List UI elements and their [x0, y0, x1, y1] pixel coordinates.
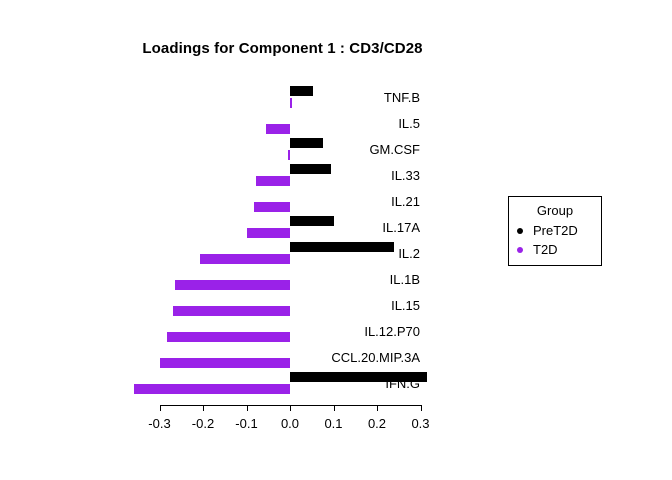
bar-group: IFN.G	[0, 370, 420, 396]
bar-t2d	[288, 150, 290, 160]
bar-pret2d	[290, 372, 427, 382]
bar-t2d	[266, 124, 290, 134]
x-axis-tick	[203, 405, 204, 411]
legend-label: PreT2D	[533, 223, 578, 238]
plot-area: TNF.BIL.5GM.CSFIL.33IL.21IL.17AIL.2IL.1B…	[0, 84, 420, 396]
bar-group: IL.33	[0, 162, 420, 188]
x-axis-tick-label: 0.0	[270, 416, 310, 431]
bar-t2d	[167, 332, 290, 342]
x-axis-tick-label: 0.3	[401, 416, 441, 431]
chart-title: Loadings for Component 1 : CD3/CD28	[0, 40, 565, 57]
x-axis-tick-label: 0.2	[357, 416, 397, 431]
bar-t2d	[134, 384, 290, 394]
bar-group: CCL.20.MIP.3A	[0, 344, 420, 370]
legend-entry: T2D	[517, 242, 601, 260]
y-axis-label: TNF.B	[302, 91, 420, 104]
bar-t2d	[254, 202, 290, 212]
bar-t2d	[175, 280, 290, 290]
x-axis-tick	[421, 405, 422, 411]
x-axis: -0.3-0.2-0.10.00.10.20.3	[0, 396, 420, 440]
x-axis-tick	[160, 405, 161, 411]
bar-group: GM.CSF	[0, 136, 420, 162]
legend-dot-icon	[517, 247, 523, 253]
x-axis-tick-label: 0.1	[314, 416, 354, 431]
bar-t2d	[290, 98, 292, 108]
y-axis-label: IL.12.P70	[302, 325, 420, 338]
bar-pret2d	[290, 242, 394, 252]
bar-group: IL.5	[0, 110, 420, 136]
bar-t2d	[247, 228, 290, 238]
legend-entry: PreT2D	[517, 223, 601, 241]
bar-group: IL.21	[0, 188, 420, 214]
x-axis-tick	[377, 405, 378, 411]
x-axis-tick-label: -0.2	[183, 416, 223, 431]
legend-label: T2D	[533, 242, 558, 257]
bar-group: IL.17A	[0, 214, 420, 240]
x-axis-tick	[290, 405, 291, 411]
legend-box: Group PreT2DT2D	[508, 196, 602, 266]
bar-t2d	[173, 306, 290, 316]
y-axis-label: IL.21	[302, 195, 420, 208]
legend-title: Group	[509, 203, 601, 218]
chart-root: Loadings for Component 1 : CD3/CD28 TNF.…	[0, 0, 672, 480]
x-axis-tick	[247, 405, 248, 411]
bar-pret2d	[290, 164, 331, 174]
bar-group: IL.1B	[0, 266, 420, 292]
bar-t2d	[160, 358, 290, 368]
bar-t2d	[256, 176, 290, 186]
bar-pret2d	[290, 138, 323, 148]
y-axis-label: CCL.20.MIP.3A	[302, 351, 420, 364]
bar-group: IL.12.P70	[0, 318, 420, 344]
legend-dot-icon	[517, 228, 523, 234]
bar-group: IL.15	[0, 292, 420, 318]
x-axis-tick-label: -0.3	[140, 416, 180, 431]
bar-group: TNF.B	[0, 84, 420, 110]
x-axis-tick	[334, 405, 335, 411]
x-axis-tick-label: -0.1	[227, 416, 267, 431]
bar-pret2d	[290, 86, 313, 96]
bar-pret2d	[290, 216, 334, 226]
bar-group: IL.2	[0, 240, 420, 266]
y-axis-label: IL.1B	[302, 273, 420, 286]
bar-t2d	[200, 254, 290, 264]
y-axis-label: IL.15	[302, 299, 420, 312]
y-axis-label: IL.5	[302, 117, 420, 130]
